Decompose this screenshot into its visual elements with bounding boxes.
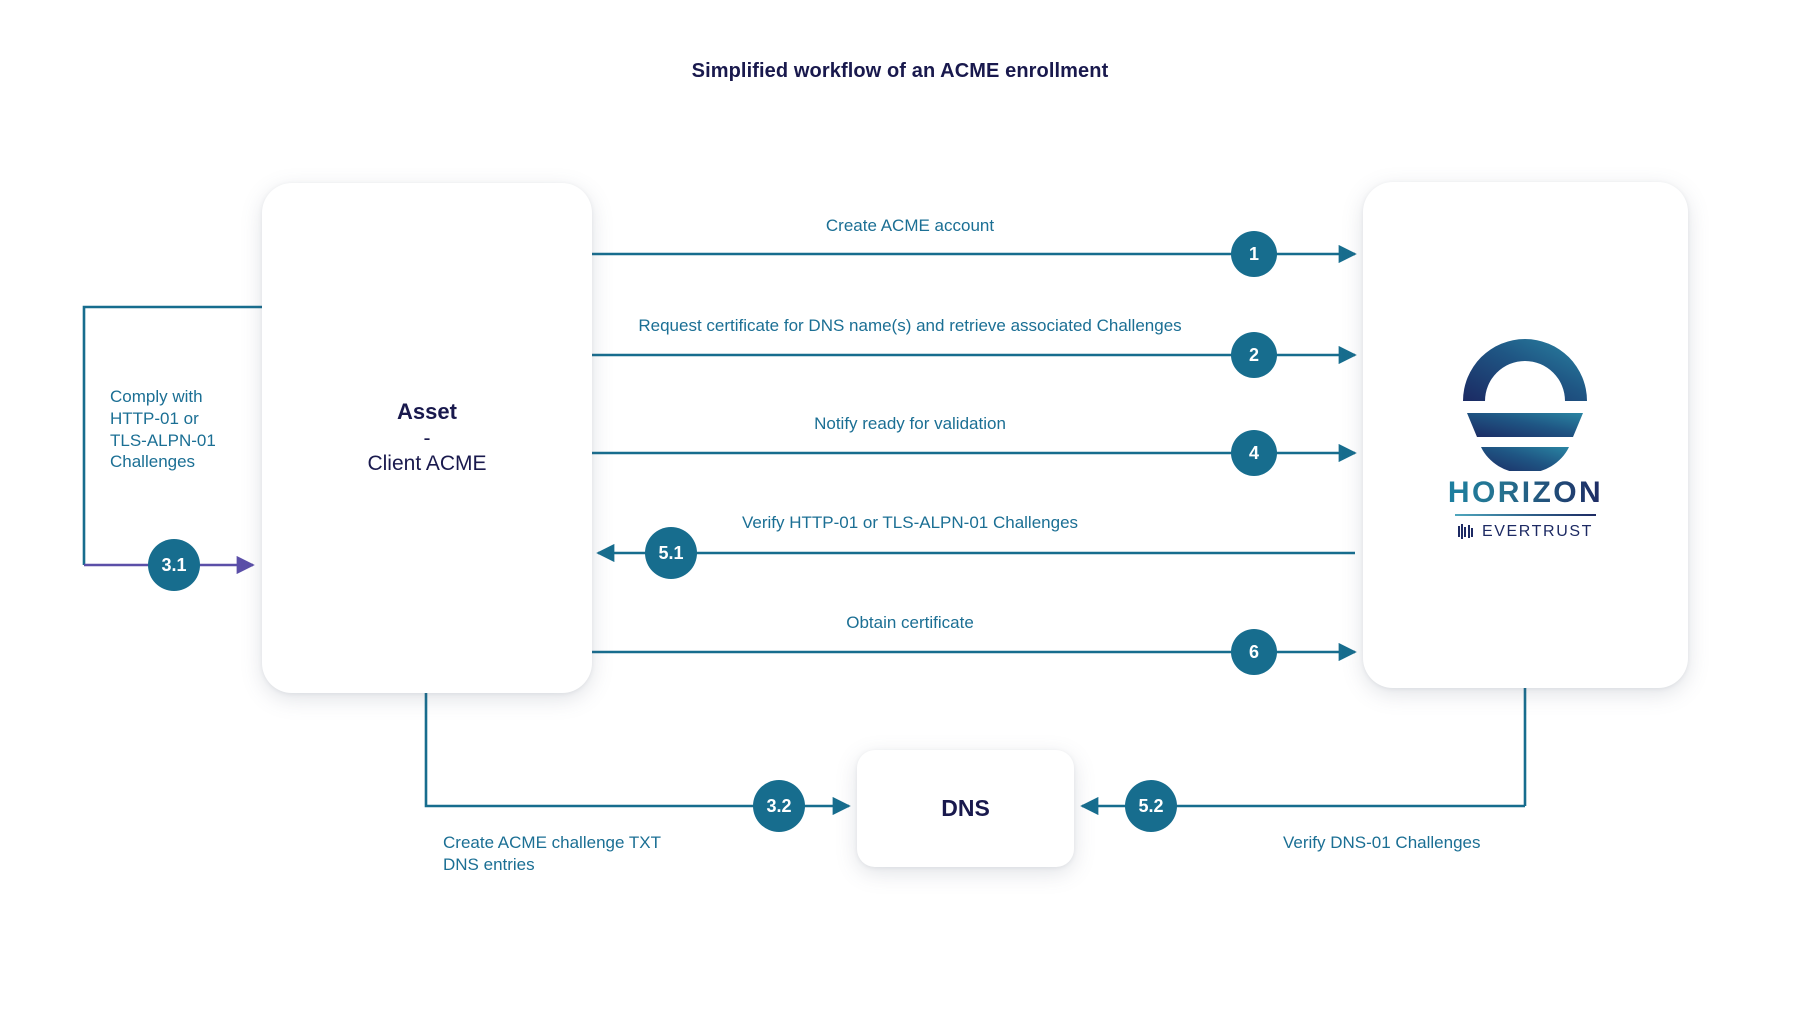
node-dns[interactable]: DNS <box>857 750 1074 867</box>
note-comply-line-3: TLS-ALPN-01 <box>110 430 270 452</box>
badge-step-4[interactable]: 4 <box>1231 430 1277 476</box>
note-comply-challenges: Comply with HTTP-01 or TLS-ALPN-01 Chall… <box>110 386 270 473</box>
horizon-logo: HORIZON EVERTRUST <box>1448 329 1603 541</box>
note-create-txt-line-1: Create ACME challenge TXT <box>443 832 703 854</box>
label-step-5-1: Verify HTTP-01 or TLS-ALPN-01 Challenges <box>742 512 1078 534</box>
note-verify-dns: Verify DNS-01 Challenges <box>1283 832 1480 854</box>
horizon-logo-divider <box>1455 514 1596 516</box>
note-create-txt: Create ACME challenge TXT DNS entries <box>443 832 703 876</box>
note-comply-line-4: Challenges <box>110 451 270 473</box>
diagram-canvas: Simplified workflow of an ACME enrollmen… <box>0 0 1800 1013</box>
label-step-6: Obtain certificate <box>846 612 974 634</box>
asset-subtitle: Client ACME <box>367 450 486 478</box>
badge-step-6[interactable]: 6 <box>1231 629 1277 675</box>
label-step-4: Notify ready for validation <box>814 413 1006 435</box>
evertrust-monogram-icon <box>1458 524 1475 539</box>
evertrust-label: EVERTRUST <box>1482 523 1593 541</box>
node-asset[interactable]: Asset - Client ACME <box>262 183 592 693</box>
note-comply-line-2: HTTP-01 or <box>110 408 270 430</box>
badge-step-3-1[interactable]: 3.1 <box>148 539 200 591</box>
badge-step-5-1[interactable]: 5.1 <box>645 527 697 579</box>
badge-step-2[interactable]: 2 <box>1231 332 1277 378</box>
badge-step-5-2[interactable]: 5.2 <box>1125 780 1177 832</box>
node-horizon[interactable]: HORIZON EVERTRUST <box>1363 182 1688 688</box>
label-step-1: Create ACME account <box>826 215 994 237</box>
note-comply-line-1: Comply with <box>110 386 270 408</box>
asset-separator: - <box>424 427 431 450</box>
note-create-txt-line-2: DNS entries <box>443 854 703 876</box>
asset-title: Asset <box>397 397 457 427</box>
badge-step-3-2[interactable]: 3.2 <box>753 780 805 832</box>
horizon-logo-icon <box>1455 329 1595 471</box>
label-step-2: Request certificate for DNS name(s) and … <box>638 315 1181 337</box>
evertrust-lockup: EVERTRUST <box>1458 523 1593 541</box>
dns-label: DNS <box>941 795 990 822</box>
badge-step-1[interactable]: 1 <box>1231 231 1277 277</box>
horizon-wordmark: HORIZON <box>1448 477 1603 509</box>
